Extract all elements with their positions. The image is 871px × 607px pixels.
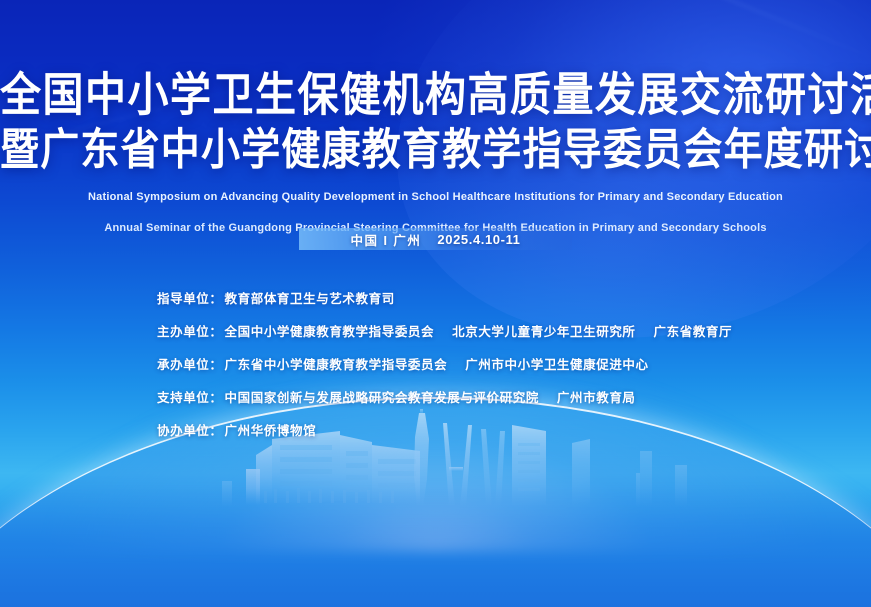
organizer-value: 中国国家创新与发展战略研究会教育发展与评价研究院 [225, 387, 539, 406]
event-badge-wrapper: 中国 I 广州 2025.4.10-11 [0, 228, 871, 250]
organizer-row: 承办单位： 广东省中小学健康教育教学指导委员会 广州市中小学卫生健康促进中心 [157, 354, 732, 373]
title-chinese-secondary: 暨广东省中小学健康教育教学指导委员会年度研讨活动 [0, 125, 871, 177]
organizer-list: 指导单位： 教育部体育卫生与艺术教育司 主办单位： 全国中小学健康教育教学指导委… [157, 288, 732, 453]
organizer-label: 支持单位： [157, 387, 223, 406]
title-chinese-primary: 全国中小学卫生保健机构高质量发展交流研讨活动 [0, 69, 871, 121]
light-streak-icon [535, 0, 862, 20]
organizer-row: 支持单位： 中国国家创新与发展战略研究会教育发展与评价研究院 广州市教育局 [157, 387, 732, 406]
organizer-row: 协办单位： 广州华侨博物馆 [157, 420, 732, 439]
organizer-value: 广州华侨博物馆 [225, 420, 317, 439]
organizer-row: 指导单位： 教育部体育卫生与艺术教育司 [157, 288, 732, 307]
organizer-label: 主办单位： [157, 321, 223, 340]
organizer-label: 承办单位： [157, 354, 223, 373]
organizer-value: 广州市中小学卫生健康促进中心 [465, 354, 648, 373]
organizer-value: 教育部体育卫生与艺术教育司 [225, 288, 395, 307]
organizer-value: 全国中小学健康教育教学指导委员会 [225, 321, 435, 340]
organizer-value: 广州市教育局 [557, 387, 636, 406]
ground-sheen [0, 487, 871, 607]
light-streak-icon [585, 0, 871, 66]
conference-poster: 全国中小学卫生保健机构高质量发展交流研讨活动 暨广东省中小学健康教育教学指导委员… [0, 0, 871, 607]
organizer-value: 广东省中小学健康教育教学指导委员会 [225, 354, 448, 373]
title-english-primary: National Symposium on Advancing Quality … [0, 190, 871, 205]
badge-city-label: 中国 I 广州 [350, 230, 421, 249]
organizer-label: 指导单位： [157, 288, 223, 307]
poster-titles: 全国中小学卫生保健机构高质量发展交流研讨活动 暨广东省中小学健康教育教学指导委员… [0, 72, 871, 236]
organizer-row: 主办单位： 全国中小学健康教育教学指导委员会 北京大学儿童青少年卫生研究所 广东… [157, 321, 732, 340]
badge-date-label: 2025.4.10-11 [437, 232, 520, 247]
event-location-date-badge: 中国 I 广州 2025.4.10-11 [299, 228, 572, 250]
organizer-value: 广东省教育厅 [654, 321, 733, 340]
organizer-label: 协办单位： [157, 420, 223, 439]
organizer-value: 北京大学儿童青少年卫生研究所 [452, 321, 635, 340]
